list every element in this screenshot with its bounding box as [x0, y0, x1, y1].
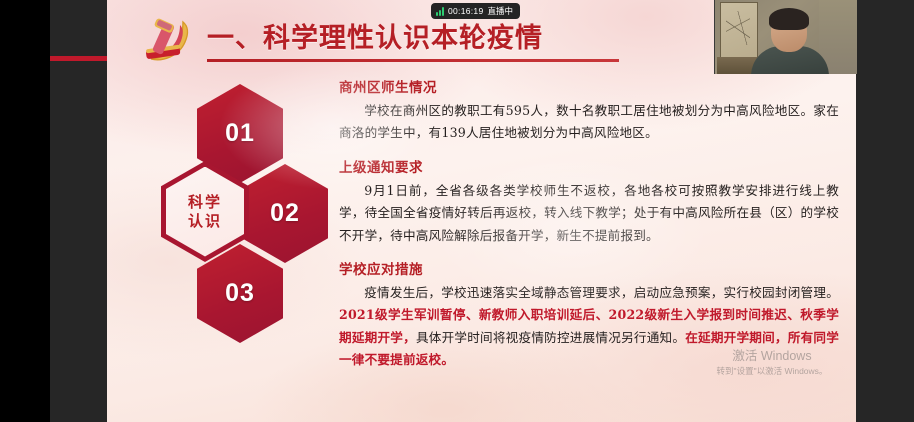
- section-heading: 商州区师生情况: [339, 76, 839, 96]
- section-paragraph: 疫情发生后，学校迅速落实全域静态管理要求，启动应急预案，实行校园封闭管理。202…: [339, 282, 839, 372]
- player-left-chrome: [50, 0, 107, 422]
- slide-red-accent-bar: [50, 56, 107, 61]
- hex-diagram: 01 02 03 科学 认识: [139, 78, 359, 343]
- section-paragraph: 9月1日前，全省各级各类学校师生不返校，各地各校可按照教学安排进行线上教学，待全…: [339, 180, 839, 247]
- hex-item-02[interactable]: 02: [242, 164, 328, 263]
- presenter-webcam-thumbnail[interactable]: [714, 0, 857, 74]
- hex-center-label-line1: 科学: [188, 194, 222, 211]
- slide-body-content: 商州区师生情况 学校在商州区的教职工有595人，数十名教职工居住地被划分为中高风…: [339, 76, 839, 383]
- hex-item-03-number: 03: [225, 279, 255, 308]
- player-right-chrome: [856, 0, 914, 422]
- measures-plain-text: 具体开学时间将视疫情防控进展情况另行通知。: [416, 330, 685, 345]
- section-school-measures: 学校应对措施 疫情发生后，学校迅速落实全域静态管理要求，启动应急预案，实行校园封…: [339, 258, 839, 372]
- section-paragraph: 学校在商州区的教职工有595人，数十名教职工居住地被划分为中高风险地区。家在商洛…: [339, 100, 839, 145]
- section-upper-level-notice: 上级通知要求 9月1日前，全省各级各类学校师生不返校，各地各校可按照教学安排进行…: [339, 156, 839, 247]
- party-emblem-hammer-sickle-icon: [133, 12, 199, 68]
- live-status-badge: 00:16:19 直播中: [431, 3, 520, 19]
- page-title: 一、科学理性认识本轮疫情: [207, 16, 543, 55]
- section-heading: 上级通知要求: [339, 156, 839, 176]
- section-teachers-students: 商州区师生情况 学校在商州区的教职工有595人，数十名教职工居住地被划分为中高风…: [339, 76, 839, 145]
- live-elapsed-time: 00:16:19: [448, 6, 484, 16]
- hex-item-01-number: 01: [225, 119, 255, 148]
- presenter-hair: [769, 8, 809, 30]
- hex-center-label-line2: 认识: [188, 213, 222, 230]
- player-left-black-bar: [0, 0, 50, 422]
- section-heading: 学校应对措施: [339, 258, 839, 278]
- measures-lead-text: 疫情发生后，学校迅速落实全域静态管理要求，启动应急预案，实行校园封闭管理。: [364, 285, 839, 300]
- hex-item-02-number: 02: [270, 199, 300, 228]
- video-player-stage: 一、科学理性认识本轮疫情 01 02 03 科学 认识: [0, 0, 914, 422]
- webcam-wall-painting: [720, 2, 758, 62]
- title-underline: [207, 59, 619, 62]
- live-status-label: 直播中: [488, 5, 514, 17]
- signal-bars-icon: [436, 7, 444, 16]
